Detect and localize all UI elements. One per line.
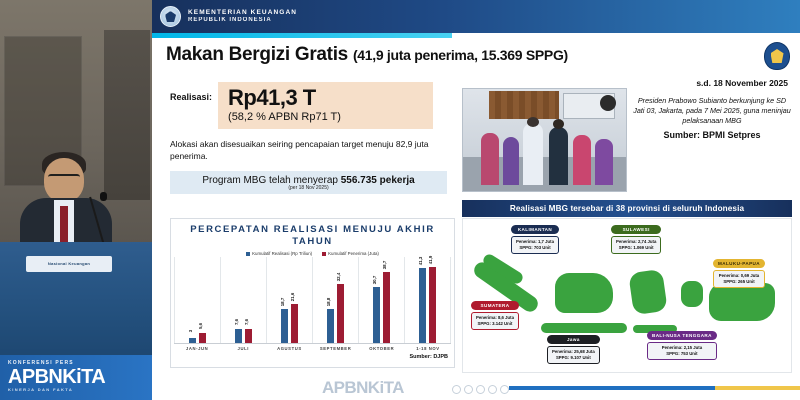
room-door [104, 30, 150, 200]
callout-jawa-name: Jawa [547, 335, 600, 344]
chart-bar-realisasi: 3 [189, 338, 196, 343]
speaker-video-feed: Nasional Keuangan KONFERENSI PERS APBNKi… [0, 0, 152, 400]
realisasi-value-box: Rp41,3 T (58,2 % APBN Rp71 T) [218, 82, 433, 129]
chart-bar-penerima: 7,6 [245, 329, 252, 343]
island-kalimantan [555, 273, 613, 313]
chart-bar-value: 18,7 [280, 298, 285, 307]
chart-bar-group: 41,341,9 [404, 257, 451, 343]
legend-swatch-penerima [322, 252, 326, 256]
island-sulawesi [628, 269, 668, 315]
callout-sumatera-sppg: SPPG: 3.142 Unit [476, 321, 514, 327]
chart-bar-penerima: 21,6 [291, 304, 298, 343]
chart-x-tick: 1-18 NOV [405, 344, 451, 351]
as-of-date: s.d. 18 November 2025 [696, 78, 788, 88]
chart-x-tick: JAN-JUN [174, 344, 220, 351]
banner-logo-kita: KiTA [62, 366, 105, 388]
acceleration-chart: PERCEPATAN REALISASI MENUJU AKHIR TAHUN … [170, 218, 455, 368]
podium: Nasional Keuangan [0, 242, 152, 362]
callout-sulawesi-sppg: SPPG: 1.069 Unit [616, 245, 656, 251]
banner-eyebrow: KONFERENSI PERS [8, 360, 144, 366]
footer-rule [509, 386, 800, 390]
photo-source: Sumber: BPMI Setpres [632, 130, 792, 140]
island-maluku [681, 281, 703, 307]
nameplate-text: Nasional Keuangan [26, 256, 112, 272]
chart-bar-realisasi: 41,3 [419, 268, 426, 343]
legend-item-realisasi: Kumulatif Realisasi (Rp Triliun) [246, 251, 312, 256]
chart-bar-value: 7,6 [244, 319, 249, 325]
chart-x-tick: AGUSTUS [266, 344, 312, 351]
legend-item-penerima: Kumulatif Penerima (Juta) [322, 251, 379, 256]
chart-bar-realisasi: 18,7 [281, 309, 288, 343]
chart-bar-value: 5,6 [198, 323, 203, 329]
chart-bar-value: 18,8 [326, 297, 331, 306]
banner-tagline: KINERJA DAN FAKTA [8, 387, 144, 392]
chart-bar-group: 30,738,7 [358, 257, 404, 343]
chart-bar-penerima: 38,7 [383, 272, 390, 343]
chart-bar-realisasi: 7,6 [235, 329, 242, 343]
callout-kalimantan[interactable]: KALIMANTAN Penerima: 1,7 Juta SPPG: 703 … [511, 225, 559, 254]
chart-bar-penerima: 32,4 [337, 284, 344, 343]
chart-bar-value: 7,6 [234, 319, 239, 325]
accent-rule [152, 33, 452, 38]
callout-jawa-sppg: SPPG: 9.107 Unit [552, 355, 595, 361]
speaker-glasses [48, 174, 80, 181]
chart-title: PERCEPATAN REALISASI MENUJU AKHIR TAHUN [171, 219, 454, 248]
photo-fan-icon [600, 95, 616, 111]
callout-bali-nusa-tenggara-name: BALI-NUSA TENGGARA [647, 331, 717, 340]
page-title: Makan Bergizi Gratis (41,9 juta penerima… [166, 44, 766, 66]
callout-maluku-papua[interactable]: MALUKU-PAPUA Penerima: 0,69 Juta SPPG: 2… [713, 259, 765, 288]
presentation-slide: KEMENTERIAN KEUANGAN REPUBLIK INDONESIA … [152, 0, 800, 400]
chart-bar-penerima: 41,9 [429, 267, 436, 343]
chart-bar-value: 32,4 [336, 273, 341, 282]
chart-bar-realisasi: 18,8 [327, 309, 334, 343]
youtube-icon [488, 385, 497, 394]
twitter-icon [464, 385, 473, 394]
callout-sumatera[interactable]: SUMATERA Penerima: 8,6 Juta SPPG: 3.142 … [471, 301, 519, 330]
island-jawa [541, 323, 627, 333]
chart-bar-penerima: 5,6 [199, 333, 206, 343]
photo-person-2 [503, 137, 519, 185]
realisasi-amount: Rp41,3 T [228, 85, 423, 110]
ministry-line-2: REPUBLIK INDONESIA [188, 17, 297, 24]
callout-bali-nusa-tenggara-sppg: SPPG: 753 Unit [652, 351, 712, 357]
chart-source: Sumber: DJPB [171, 351, 454, 360]
callout-kalimantan-body: Penerima: 1,7 Juta SPPG: 703 Unit [511, 236, 559, 254]
photo-person-1 [481, 133, 499, 185]
chart-bar-value: 41,3 [418, 256, 423, 265]
callout-kalimantan-sppg: SPPG: 703 Unit [516, 245, 554, 251]
photo-person-3-head [527, 117, 539, 127]
website-icon [500, 385, 509, 394]
instagram-icon [476, 385, 485, 394]
video-stage: Nasional Keuangan KONFERENSI PERS APBNKi… [0, 0, 800, 400]
microphone-icon [100, 192, 107, 201]
chart-x-tick: OKTOBER [359, 344, 405, 351]
chart-bar-value: 38,7 [382, 261, 387, 270]
chart-bar-group: 18,832,4 [312, 257, 358, 343]
callout-jawa[interactable]: Jawa Penerima: 25,68 Juta SPPG: 9.107 Un… [547, 335, 600, 364]
banner-logo: APBNKiTA [8, 366, 144, 388]
realisasi-percent: (58,2 % APBN Rp71 T) [228, 110, 423, 124]
realisasi-row: Realisasi: Rp41,3 T (58,2 % APBN Rp71 T) [170, 82, 465, 129]
photo-cabinet [489, 91, 559, 119]
callout-jawa-body: Penerima: 25,68 Juta SPPG: 9.107 Unit [547, 346, 600, 364]
chart-bar-value: 3 [188, 329, 193, 331]
chart-legend: Kumulatif Realisasi (Rp Triliun) Kumulat… [171, 251, 454, 256]
callout-sulawesi[interactable]: SULAWESI Penerima: 2,74 Juta SPPG: 1.069… [611, 225, 661, 254]
page-title-detail: (41,9 juta penerima, 15.369 SPPG) [353, 47, 568, 63]
ministry-line-1: KEMENTERIAN KEUANGAN [188, 9, 297, 16]
chart-plot-area: 35,67,67,618,721,618,832,430,738,741,341… [174, 257, 451, 343]
callout-maluku-papua-name: MALUKU-PAPUA [713, 259, 765, 268]
press-conference-banner: KONFERENSI PERS APBNKiTA KINERJA DAN FAK… [0, 355, 152, 400]
map-header: Realisasi MBG tersebar di 38 provinsi di… [462, 200, 792, 217]
nameplate: Nasional Keuangan [26, 256, 112, 272]
workers-absorbed-strip: Program MBG telah menyerap 556.735 peker… [170, 171, 447, 194]
photo-person-5 [573, 135, 591, 185]
legend-label-realisasi: Kumulatif Realisasi (Rp Triliun) [252, 251, 312, 256]
chart-bar-group: 18,721,6 [266, 257, 312, 343]
president-visit-photo [462, 88, 627, 192]
chart-x-tick: JULI [220, 344, 266, 351]
chart-bar-value: 41,9 [428, 255, 433, 264]
photo-person-4 [549, 127, 568, 185]
footer-social-icons [452, 385, 509, 394]
ministry-title: KEMENTERIAN KEUANGAN REPUBLIK INDONESIA [188, 9, 297, 23]
facebook-icon [452, 385, 461, 394]
realisasi-block: Realisasi: Rp41,3 T (58,2 % APBN Rp71 T)… [170, 82, 465, 194]
callout-sulawesi-name: SULAWESI [611, 225, 661, 234]
chart-bar-group: 7,67,6 [220, 257, 266, 343]
callout-sulawesi-body: Penerima: 2,74 Juta SPPG: 1.069 Unit [611, 236, 661, 254]
chart-bar-value: 21,6 [290, 292, 295, 301]
treasury-seal-icon [764, 42, 790, 70]
banner-logo-apbn: APBN [8, 366, 62, 388]
legend-label-penerima: Kumulatif Penerima (Juta) [328, 251, 379, 256]
allocation-note: Alokasi akan disesuaikan seiring pencapa… [170, 138, 445, 162]
callout-bali-nusa-tenggara-body: Penerima: 2,15 Juta SPPG: 753 Unit [647, 342, 717, 360]
indonesia-map: KALIMANTAN Penerima: 1,7 Juta SPPG: 703 … [462, 218, 792, 373]
photo-person-3 [523, 123, 543, 185]
callout-maluku-papua-sppg: SPPG: 265 Unit [718, 279, 760, 285]
callout-sumatera-body: Penerima: 8,6 Juta SPPG: 3.142 Unit [471, 312, 519, 330]
photo-person-4-head [553, 119, 564, 129]
chart-x-tick: SEPTEMBER [313, 344, 359, 351]
callout-bali-nusa-tenggara[interactable]: BALI-NUSA TENGGARA Penerima: 2,15 Juta S… [647, 331, 717, 360]
island-papua [709, 283, 775, 321]
callout-maluku-papua-body: Penerima: 0,69 Juta SPPG: 265 Unit [713, 270, 765, 288]
callout-kalimantan-name: KALIMANTAN [511, 225, 559, 234]
callout-sumatera-name: SUMATERA [471, 301, 519, 310]
legend-swatch-realisasi [246, 252, 250, 256]
page-title-main: Makan Bergizi Gratis [166, 44, 348, 65]
footer-logo: APBNKiTA [322, 378, 404, 398]
chart-bar-realisasi: 30,7 [373, 287, 380, 343]
photo-caption-block: Presiden Prabowo Subianto berkunjung ke … [632, 96, 792, 140]
realisasi-label: Realisasi: [170, 82, 212, 102]
photo-person-6 [595, 139, 613, 185]
ministry-header-strip: KEMENTERIAN KEUANGAN REPUBLIK INDONESIA [152, 0, 800, 33]
chart-x-axis: JAN-JUNJULIAGUSTUSSEPTEMBEROKTOBER1-18 N… [174, 343, 451, 351]
workers-count: 556.735 pekerja [341, 175, 415, 186]
ministry-seal-icon [160, 6, 181, 27]
slide-footer: APBNKiTA 29 [304, 376, 800, 400]
chart-bar-value: 30,7 [372, 276, 377, 285]
photo-caption: Presiden Prabowo Subianto berkunjung ke … [632, 96, 792, 126]
chart-bar-group: 35,6 [174, 257, 220, 343]
